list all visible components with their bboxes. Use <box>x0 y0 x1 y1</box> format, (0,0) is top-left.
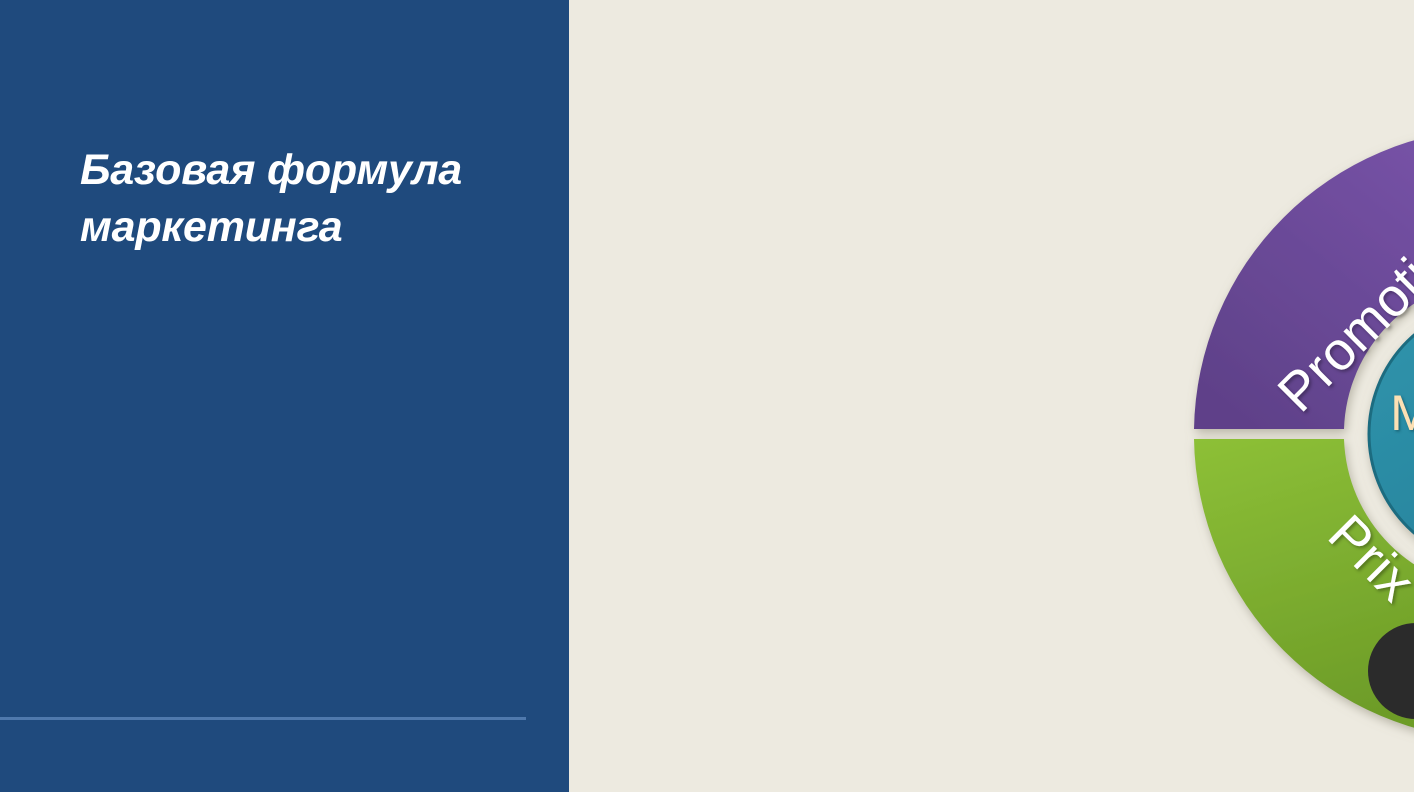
content-area: Produit Place Prix Promotion Marketing M… <box>569 0 1414 792</box>
page-title: Базовая формула маркетинга <box>80 142 520 256</box>
page-title-line-1: Базовая формула <box>80 142 520 199</box>
slide-canvas: Базовая формула маркетинга <box>0 0 1414 792</box>
page-title-line-2: маркетинга <box>80 199 520 256</box>
title-divider-rule <box>0 717 526 720</box>
donut-center-label-line-1: Marketing <box>1390 385 1414 441</box>
title-panel: Базовая формула маркетинга <box>0 0 569 792</box>
